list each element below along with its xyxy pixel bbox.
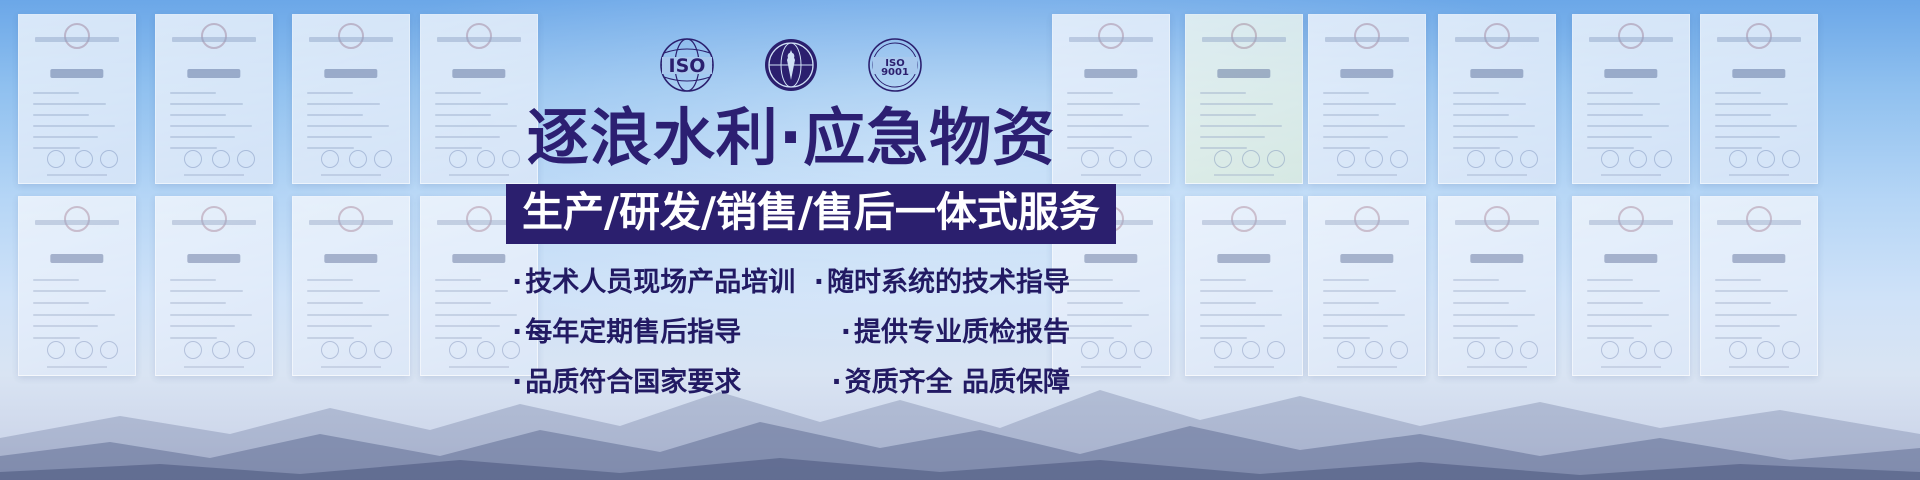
cert-text-line (1715, 302, 1771, 304)
cert-text-line (1587, 147, 1635, 149)
cert-title-block (324, 69, 377, 78)
cert-text-line (33, 103, 106, 105)
cert-text-line (1587, 325, 1652, 327)
cert-text-line (1323, 103, 1396, 105)
cert-footer-rule (184, 174, 244, 176)
cert-inspection-report-2 (155, 14, 273, 184)
cert-title-block (452, 69, 505, 78)
feature-item: ·随时系统的技术指导 (814, 266, 1070, 299)
iso-9001-badge: ISO 9001 (866, 36, 924, 94)
cert-text-line (435, 302, 491, 304)
cert-header-rule (1069, 37, 1153, 42)
iso-badge: ISO (658, 36, 716, 94)
cert-header-rule (1589, 220, 1673, 225)
feature-text: 品质符合国家要求 (525, 367, 741, 398)
cert-text-line (33, 290, 106, 292)
cert-text-line (1200, 92, 1246, 94)
feature-text: 随时系统的技术指导 (827, 267, 1070, 298)
cert-seal-icon (1231, 206, 1257, 232)
cert-header-rule (172, 220, 256, 225)
cert-text-line (1200, 125, 1282, 127)
cert-text-line (1453, 279, 1499, 281)
cert-text-line (170, 103, 243, 105)
bullet-dot-icon: · (512, 267, 522, 298)
cert-text-line (307, 114, 363, 116)
cert-text-line (1715, 325, 1780, 327)
cert-text-line (435, 279, 481, 281)
feature-item: ·品质符合国家要求 (512, 366, 741, 399)
cert-mark-icon (1467, 150, 1485, 168)
cert-text-line (435, 290, 508, 292)
feature-item: ·资质齐全 品质保障 (831, 366, 1070, 399)
cert-mark-icon (1629, 150, 1647, 168)
cert-text-line (1067, 325, 1132, 327)
cert-text-line (307, 92, 353, 94)
cert-text-line (1200, 290, 1273, 292)
cert-header-rule (1717, 37, 1801, 42)
cert-text-line (1453, 103, 1526, 105)
cert-mark-icon (1520, 150, 1538, 168)
cert-mark-icon (477, 150, 495, 168)
promo-banner: ISO ISO 9001 (0, 0, 1920, 480)
cert-title-block (1217, 254, 1270, 263)
cqc-emblem-badge (762, 36, 820, 94)
cert-title-block (50, 254, 103, 263)
feature-item: ·提供专业质检报告 (841, 316, 1070, 349)
cert-text-line (1200, 103, 1273, 105)
cert-mark-icon (184, 150, 202, 168)
cert-text-line (1323, 147, 1371, 149)
cert-mark-icon (321, 150, 339, 168)
feature-text: 提供专业质检报告 (854, 317, 1070, 348)
cert-header-rule (172, 37, 256, 42)
cert-seal-icon (201, 206, 227, 232)
feature-list: ·技术人员现场产品培训·随时系统的技术指导·每年定期售后指导·提供专业质检报告·… (506, 266, 1076, 399)
cert-text-line (1587, 302, 1643, 304)
cert-text-line (1587, 125, 1669, 127)
cert-text-line (33, 92, 79, 94)
cert-text-line (33, 314, 115, 316)
cert-product-cert-3 (1438, 14, 1556, 184)
cert-mark-icon (1390, 150, 1408, 168)
cert-text-line (1323, 279, 1369, 281)
cert-text-line (435, 114, 491, 116)
cert-header-rule (35, 37, 119, 42)
cert-header-rule (1455, 37, 1539, 42)
cert-mark-icon (1242, 150, 1260, 168)
cert-seal-icon (1354, 206, 1380, 232)
cert-text-line (1715, 125, 1797, 127)
cert-text-line (1323, 290, 1396, 292)
cert-text-line (435, 147, 483, 149)
cert-header-rule (1202, 37, 1286, 42)
cert-text-line (435, 314, 517, 316)
cert-header-rule (1325, 37, 1409, 42)
cert-environment-system (1185, 14, 1303, 184)
cert-text-line (170, 125, 252, 127)
cert-title-block (187, 69, 240, 78)
feature-item: ·每年定期售后指导 (512, 316, 741, 349)
cert-text-line (33, 114, 89, 116)
cert-text-line (1587, 92, 1633, 94)
bullet-dot-icon: · (831, 367, 841, 398)
cert-text-line (1587, 279, 1633, 281)
cert-mark-icon (1134, 150, 1152, 168)
feature-item: ·技术人员现场产品培训 (512, 266, 795, 299)
page-title: 逐浪水利·应急物资 (506, 102, 1076, 174)
cert-seal-icon (1484, 206, 1510, 232)
cert-text-line (1323, 92, 1369, 94)
cert-text-line (307, 290, 380, 292)
bullet-dot-icon: · (512, 317, 522, 348)
cert-text-line (1453, 92, 1499, 94)
cert-text-line (435, 125, 517, 127)
cert-footer-rule (1081, 174, 1141, 176)
cert-text-line (307, 325, 372, 327)
cert-title-block (324, 254, 377, 263)
cert-text-line (1587, 290, 1660, 292)
cert-mark-icon (1267, 150, 1285, 168)
cert-text-line (1453, 125, 1535, 127)
cert-text-line (1453, 302, 1509, 304)
bullet-dot-icon: · (814, 267, 824, 298)
cert-text-line (307, 302, 363, 304)
cert-title-block (1340, 254, 1393, 263)
cert-header-rule (1589, 37, 1673, 42)
cert-text-line (33, 125, 115, 127)
cert-text-line (1715, 290, 1788, 292)
bullet-dot-icon: · (512, 367, 522, 398)
cert-text-line (1715, 136, 1780, 138)
cert-text-line (307, 103, 380, 105)
cert-text-line (1715, 279, 1761, 281)
cert-title-block (187, 254, 240, 263)
cert-seal-icon (1618, 206, 1644, 232)
cert-mark-icon (374, 150, 392, 168)
cert-mark-icon (1654, 150, 1672, 168)
cert-text-line (1200, 325, 1265, 327)
cert-text-line (1200, 314, 1282, 316)
cert-mark-icon (1214, 150, 1232, 168)
cert-text-line (1067, 136, 1132, 138)
cert-mark-icon (1729, 150, 1747, 168)
cert-text-line (170, 114, 226, 116)
cert-text-line (435, 325, 500, 327)
cert-footer-rule (1214, 174, 1274, 176)
cert-text-line (1323, 325, 1388, 327)
cert-text-line (1200, 114, 1256, 116)
cert-text-line (1715, 103, 1788, 105)
cert-seal-icon (1746, 206, 1772, 232)
cert-text-line (1323, 302, 1379, 304)
cert-mark-icon (1081, 150, 1099, 168)
cert-mark-icon (1601, 150, 1619, 168)
cert-test-report-2 (1572, 14, 1690, 184)
cert-text-line (1323, 314, 1405, 316)
cert-title-block (452, 254, 505, 263)
cert-text-line (1715, 147, 1763, 149)
cert-text-line (1453, 325, 1518, 327)
cert-mark-icon (47, 150, 65, 168)
cert-title-block (1604, 69, 1657, 78)
cert-text-line (1587, 103, 1660, 105)
cert-mark-icon (1109, 150, 1127, 168)
feature-text: 资质齐全 品质保障 (845, 367, 1070, 398)
cert-test-report-1 (1308, 14, 1426, 184)
cert-footer-rule (449, 174, 509, 176)
cert-text-line (1200, 279, 1246, 281)
cert-mark-icon (100, 150, 118, 168)
svg-text:9001: 9001 (881, 67, 909, 78)
cert-header-rule (1325, 220, 1409, 225)
feature-text: 技术人员现场产品培训 (525, 267, 795, 298)
feature-row: ·每年定期售后指导·提供专业质检报告 (506, 316, 1076, 349)
cert-mark-icon (1495, 150, 1513, 168)
banner-content: ISO ISO 9001 (506, 18, 1076, 462)
cert-header-rule (309, 220, 393, 225)
cert-footer-rule (1337, 174, 1397, 176)
certification-badges: ISO ISO 9001 (506, 34, 1076, 96)
cert-title-block (1470, 69, 1523, 78)
cert-header-rule (1455, 220, 1539, 225)
cert-header-rule (309, 37, 393, 42)
cert-title-block (1217, 69, 1270, 78)
cert-title-block (1084, 254, 1137, 263)
cert-mark-icon (75, 150, 93, 168)
cert-text-line (1200, 136, 1265, 138)
cert-title-block (1340, 69, 1393, 78)
cert-seal-icon (64, 206, 90, 232)
cert-mark-icon (1365, 150, 1383, 168)
cert-title-block (1604, 254, 1657, 263)
cert-text-line (1715, 92, 1761, 94)
cert-title-block (1084, 69, 1137, 78)
cert-mark-icon (449, 150, 467, 168)
cert-text-line (33, 279, 79, 281)
cert-text-line (1200, 147, 1248, 149)
cert-text-line (307, 125, 389, 127)
feature-row: ·技术人员现场产品培训·随时系统的技术指导 (506, 266, 1076, 299)
cert-text-line (1453, 114, 1509, 116)
cert-text-line (307, 147, 355, 149)
cert-seal-icon (466, 206, 492, 232)
cert-text-line (1587, 114, 1643, 116)
cert-footer-rule (1601, 174, 1661, 176)
cert-text-line (170, 325, 235, 327)
cert-text-line (1067, 290, 1140, 292)
cert-text-line (435, 103, 508, 105)
cert-text-line (1453, 314, 1535, 316)
cert-mark-icon (1337, 150, 1355, 168)
cert-text-line (170, 314, 252, 316)
cert-text-line (33, 325, 98, 327)
cert-text-line (33, 147, 81, 149)
cert-title-block (1470, 254, 1523, 263)
cert-seal-icon (338, 206, 364, 232)
cert-footer-rule (47, 174, 107, 176)
feature-text: 每年定期售后指导 (525, 317, 741, 348)
cert-text-line (1323, 136, 1388, 138)
cert-text-line (307, 279, 353, 281)
cert-text-line (1323, 114, 1379, 116)
cert-footer-rule (1729, 174, 1789, 176)
cert-text-line (170, 302, 226, 304)
cert-text-line (1200, 302, 1256, 304)
cert-text-line (170, 92, 216, 94)
cert-text-line (435, 92, 481, 94)
cert-mark-icon (1757, 150, 1775, 168)
cert-text-line (1067, 125, 1149, 127)
cert-text-line (1453, 136, 1518, 138)
cert-text-line (307, 136, 372, 138)
cert-mark-icon (237, 150, 255, 168)
cert-text-line (1715, 114, 1771, 116)
cert-text-line (33, 302, 89, 304)
cert-text-line (307, 314, 389, 316)
cert-text-line (1453, 290, 1526, 292)
subtitle-bar: 生产/研发/销售/售后一体式服务 (506, 184, 1116, 244)
cert-text-line (1715, 314, 1797, 316)
bullet-dot-icon: · (841, 317, 851, 348)
cert-text-line (33, 136, 98, 138)
cert-footer-rule (1467, 174, 1527, 176)
cert-title-block (1732, 254, 1785, 263)
cert-header-rule (1202, 220, 1286, 225)
cert-header-rule (1717, 220, 1801, 225)
cert-text-line (1067, 314, 1149, 316)
cert-mark-icon (349, 150, 367, 168)
cert-header-rule (35, 220, 119, 225)
cert-inspection-report-1 (18, 14, 136, 184)
cert-title-block (50, 69, 103, 78)
cert-text-line (1587, 136, 1652, 138)
cert-footer-rule (321, 174, 381, 176)
cert-text-line (1453, 147, 1501, 149)
cert-text-line (435, 136, 500, 138)
cert-text-line (170, 279, 216, 281)
cert-text-line (170, 290, 243, 292)
cert-text-line (1323, 125, 1405, 127)
cert-text-line (1067, 103, 1140, 105)
cert-title-block (1732, 69, 1785, 78)
cert-text-line (170, 147, 218, 149)
cert-mark-icon (1782, 150, 1800, 168)
svg-text:ISO: ISO (669, 55, 706, 77)
cert-test-report-3 (1700, 14, 1818, 184)
cert-mark-icon (212, 150, 230, 168)
cert-text-line (1587, 314, 1669, 316)
feature-row: ·品质符合国家要求·资质齐全 品质保障 (506, 366, 1076, 399)
cert-text-line (170, 136, 235, 138)
cert-product-cert-1 (292, 14, 410, 184)
